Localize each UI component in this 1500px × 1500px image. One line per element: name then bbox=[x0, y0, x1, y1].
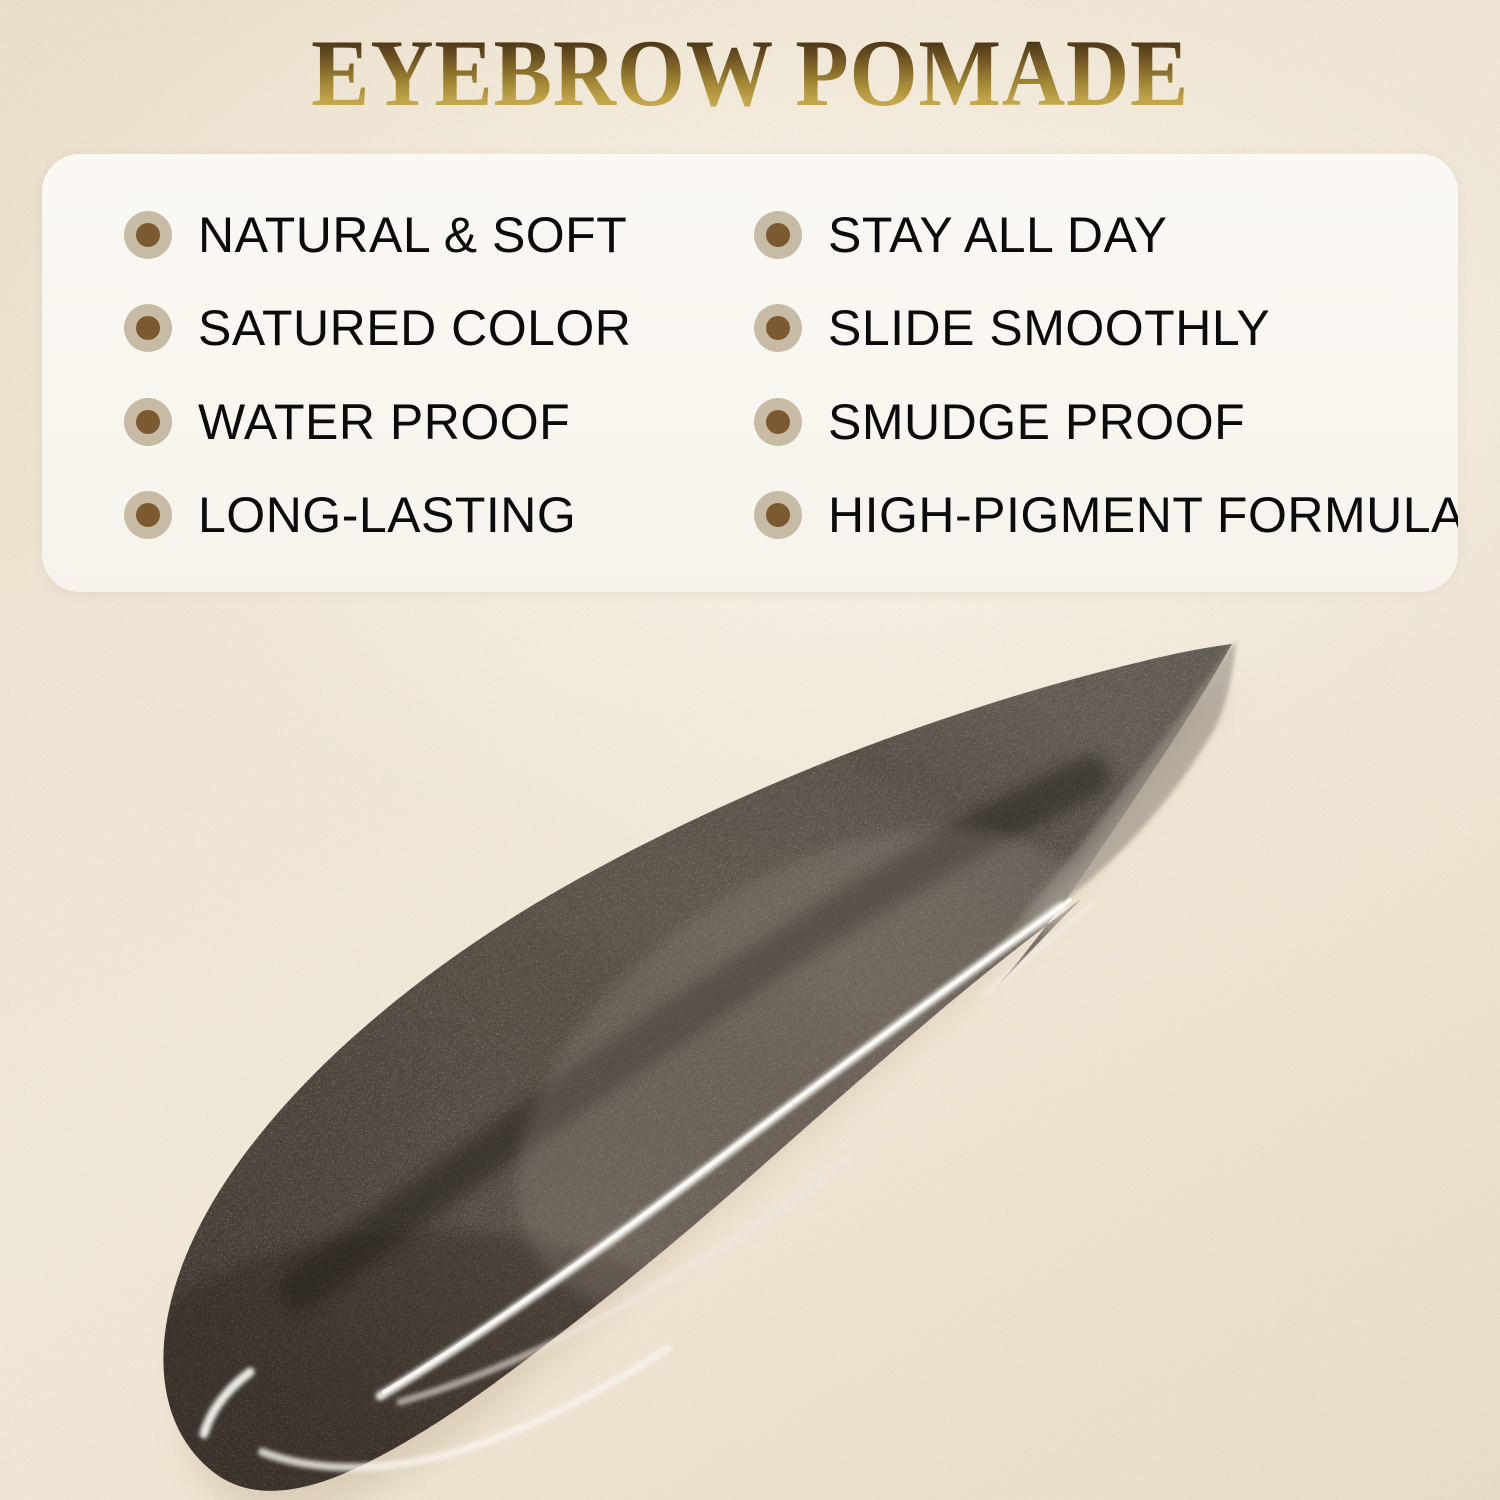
feature-item-stay-all-day: STAY ALL DAY bbox=[754, 188, 1458, 282]
bullet-dot-icon bbox=[124, 304, 172, 352]
pomade-swatch-smear bbox=[0, 600, 1500, 1500]
feature-item-satured-color: SATURED COLOR bbox=[124, 282, 754, 376]
feature-label: LONG-LASTING bbox=[198, 490, 576, 540]
feature-label: HIGH-PIGMENT FORMULA bbox=[828, 490, 1458, 540]
feature-grid: NATURAL & SOFT STAY ALL DAY SATURED COLO… bbox=[42, 154, 1458, 592]
bullet-dot-icon bbox=[124, 398, 172, 446]
feature-item-water-proof: WATER PROOF bbox=[124, 375, 754, 469]
feature-label: SMUDGE PROOF bbox=[828, 397, 1245, 447]
feature-item-high-pigment-formula: HIGH-PIGMENT FORMULA bbox=[754, 469, 1458, 563]
bullet-dot-icon bbox=[124, 211, 172, 259]
feature-item-natural-soft: NATURAL & SOFT bbox=[124, 188, 754, 282]
bullet-dot-icon bbox=[754, 304, 802, 352]
feature-item-smudge-proof: SMUDGE PROOF bbox=[754, 375, 1458, 469]
bullet-dot-icon bbox=[754, 398, 802, 446]
feature-label: SLIDE SMOOTHLY bbox=[828, 303, 1270, 353]
swatch-texture bbox=[0, 600, 1500, 1500]
feature-item-long-lasting: LONG-LASTING bbox=[124, 469, 754, 563]
bullet-dot-icon bbox=[754, 491, 802, 539]
bullet-dot-icon bbox=[124, 491, 172, 539]
feature-label: STAY ALL DAY bbox=[828, 210, 1168, 260]
page-title-container: EYEBROW POMADE bbox=[0, 26, 1500, 121]
product-infographic-page: EYEBROW POMADE NATURAL & SOFT STAY ALL D… bbox=[0, 0, 1500, 1500]
feature-item-slide-smoothly: SLIDE SMOOTHLY bbox=[754, 282, 1458, 376]
bullet-dot-icon bbox=[754, 211, 802, 259]
feature-label: SATURED COLOR bbox=[198, 303, 631, 353]
feature-label: NATURAL & SOFT bbox=[198, 210, 627, 260]
page-title: EYEBROW POMADE bbox=[311, 26, 1189, 121]
feature-label: WATER PROOF bbox=[198, 397, 570, 447]
feature-highlights-card: NATURAL & SOFT STAY ALL DAY SATURED COLO… bbox=[42, 154, 1458, 592]
